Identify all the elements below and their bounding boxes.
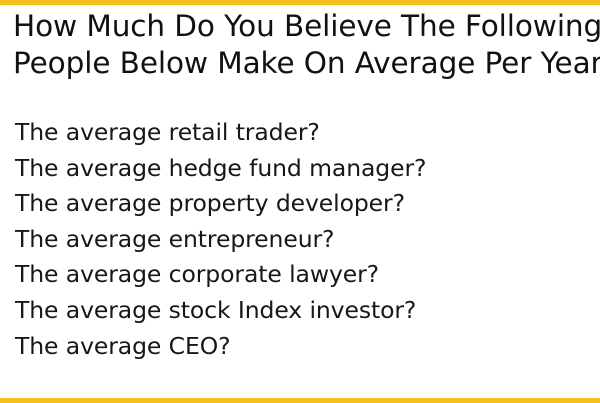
slide-title-line-1: How Much Do You Believe The Following — [13, 8, 598, 45]
list-item: The average hedge fund manager? — [15, 151, 596, 187]
list-item: The average stock Index investor? — [15, 293, 596, 329]
question-list: The average retail trader? The average h… — [15, 115, 596, 364]
bottom-accent-rule — [0, 398, 600, 403]
list-item: The average entrepreneur? — [15, 222, 596, 258]
list-item: The average CEO? — [15, 329, 596, 365]
slide-title: How Much Do You Believe The Following Pe… — [13, 8, 598, 82]
list-item: The average corporate lawyer? — [15, 257, 596, 293]
list-item: The average property developer? — [15, 186, 596, 222]
slide-title-line-2: People Below Make On Average Per Year? — [13, 45, 598, 82]
list-item: The average retail trader? — [15, 115, 596, 151]
presentation-slide: How Much Do You Believe The Following Pe… — [0, 0, 600, 403]
slide-body: How Much Do You Believe The Following Pe… — [0, 5, 600, 398]
